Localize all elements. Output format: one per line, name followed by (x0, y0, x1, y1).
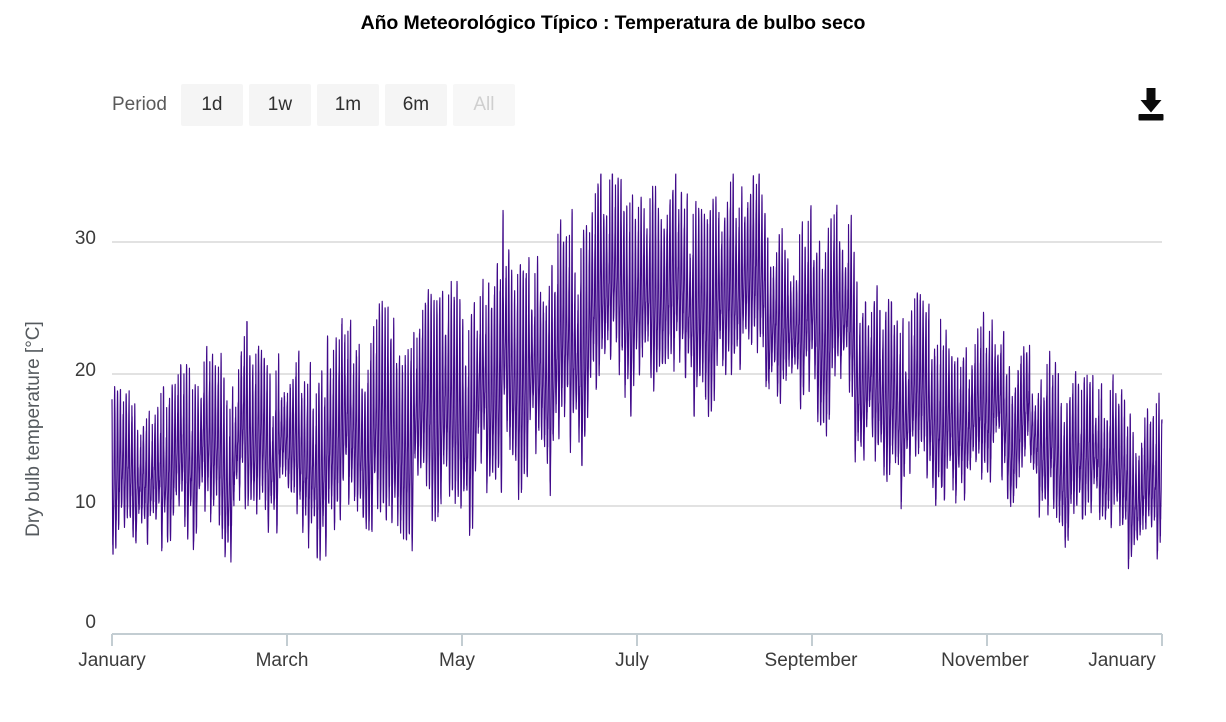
plot-area: Dry bulb temperature [°C] 30 20 10 0 Jan… (0, 0, 1226, 722)
chart-canvas (0, 0, 1226, 722)
series-line (112, 174, 1162, 569)
chart-page: Año Meteorológico Típico : Temperatura d… (0, 0, 1226, 722)
x-axis (112, 634, 1162, 646)
